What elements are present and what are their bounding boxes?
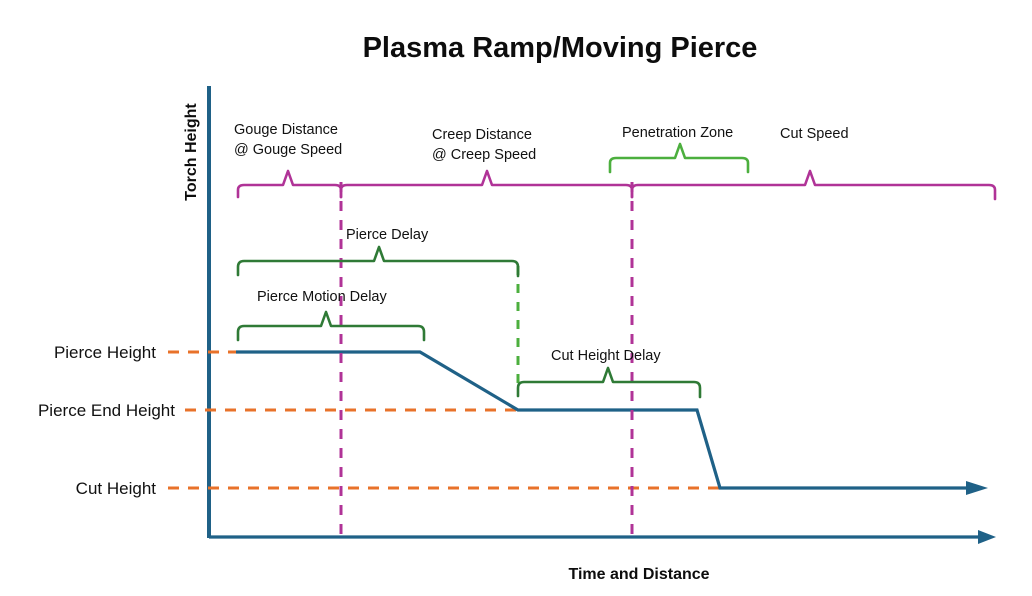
pierce-delay-label: Pierce Delay xyxy=(346,227,429,243)
penetration-zone-label: Penetration Zone xyxy=(622,125,733,141)
gouge-distance-label-line1: Gouge Distance xyxy=(234,122,338,138)
x-axis-arrow-icon xyxy=(978,530,996,544)
level-label-cut-height: Cut Height xyxy=(76,479,157,498)
gouge-speed-label-line2: @ Gouge Speed xyxy=(234,142,342,158)
pierce-delay-bracket xyxy=(238,247,518,276)
penetration-zone-bracket xyxy=(610,144,748,172)
creep-distance-bracket xyxy=(341,171,632,197)
cut-speed-bracket xyxy=(632,171,995,199)
pierce-motion-delay-label: Pierce Motion Delay xyxy=(257,289,387,305)
gouge-distance-bracket xyxy=(238,171,341,197)
level-label-pierce-height: Pierce Height xyxy=(54,343,156,362)
creep-distance-label-line1: Creep Distance xyxy=(432,127,532,143)
penetration-zone-bracket-group xyxy=(610,144,748,172)
speed-bracket-group xyxy=(238,171,995,199)
level-label-pierce-end-height: Pierce End Height xyxy=(38,401,175,420)
torch-height-arrow-icon xyxy=(966,481,988,495)
height-level-guides xyxy=(168,352,720,488)
diagram-canvas: Plasma Ramp/Moving Pierce Torch Height T… xyxy=(0,0,1032,596)
cut-height-delay-label: Cut Height Delay xyxy=(551,348,661,364)
plasma-ramp-diagram: Plasma Ramp/Moving Pierce Torch Height T… xyxy=(0,0,1032,596)
creep-speed-label-line2: @ Creep Speed xyxy=(432,147,536,163)
cut-height-delay-bracket xyxy=(518,368,700,397)
torch-height-line xyxy=(236,352,968,488)
cut-speed-label: Cut Speed xyxy=(780,126,849,142)
page-title: Plasma Ramp/Moving Pierce xyxy=(363,32,758,64)
pierce-motion-delay-bracket xyxy=(238,312,424,340)
y-axis-title: Torch Height xyxy=(183,103,200,201)
x-axis-title: Time and Distance xyxy=(568,566,709,583)
torch-height-profile xyxy=(236,352,988,495)
